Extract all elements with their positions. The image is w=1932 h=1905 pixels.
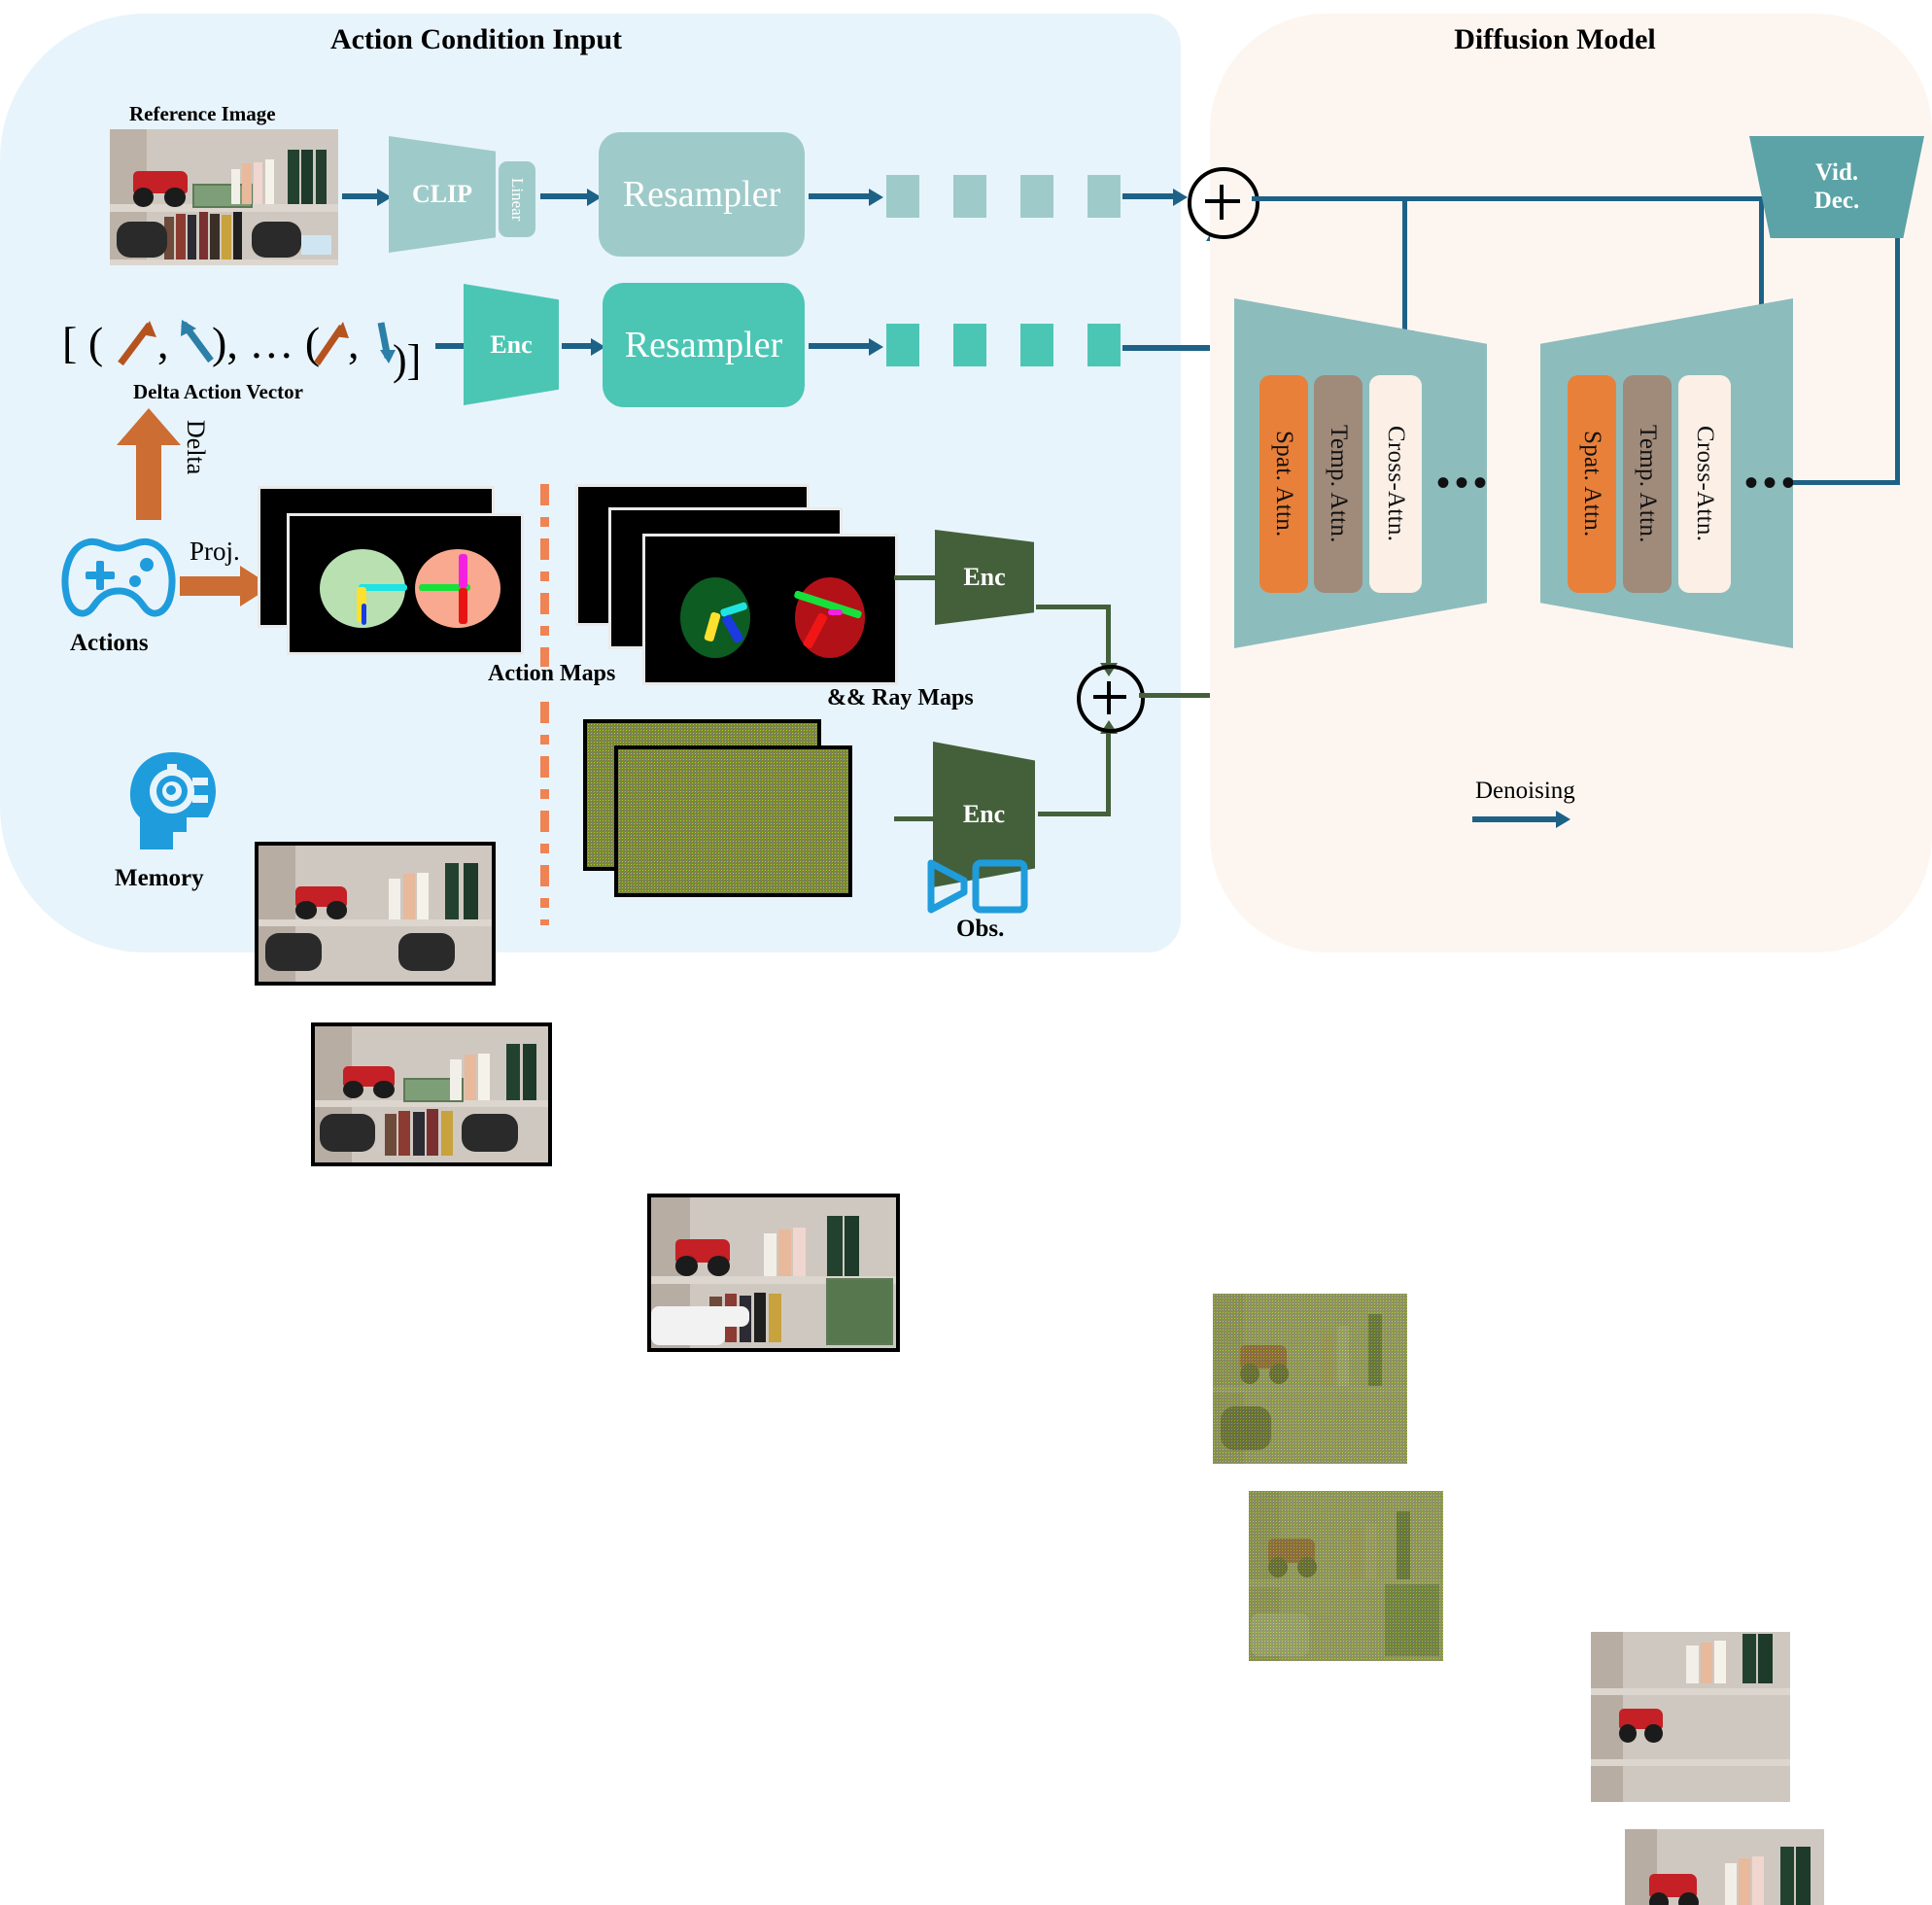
unet-up-spat-attn[interactable]: Spat. Attn.	[1568, 375, 1616, 593]
unet-down-cross-attn-label: Cross-Attn.	[1382, 426, 1409, 541]
dashed-separator-top	[540, 484, 549, 667]
unet-up-ellipsis: •••	[1744, 460, 1800, 505]
unet-up-cross-attn[interactable]: Cross-Attn.	[1678, 375, 1731, 593]
arrow-resampler1-out-line	[809, 193, 869, 199]
delta-vector-closing-bracket: )]	[393, 335, 421, 385]
actions-label: Actions	[70, 630, 149, 657]
resampler-image-block[interactable]: Resampler	[599, 132, 805, 257]
action-token-4	[1087, 324, 1121, 366]
svg-text:,: ,	[157, 318, 169, 367]
denoised-output-back	[1591, 1632, 1790, 1802]
action-map-card-front[interactable]	[287, 513, 524, 655]
action-maps-label: Action Maps	[488, 661, 615, 687]
sum-node-lower	[1077, 665, 1145, 733]
cross-attn-bus-h	[1252, 196, 1764, 201]
denoising-input-front	[1249, 1491, 1443, 1661]
unet-up-temp-attn-label: Temp. Attn.	[1634, 425, 1661, 543]
gamepad-icon	[58, 535, 180, 624]
resampler-action-block[interactable]: Resampler	[603, 283, 805, 407]
resampler-image-label: Resampler	[623, 173, 781, 216]
cross-attn-feed-v-left	[1402, 196, 1407, 332]
svg-text:,: ,	[348, 318, 360, 367]
linear-block[interactable]: Linear	[499, 161, 535, 237]
dashed-separator-bottom	[540, 702, 549, 925]
delta-action-vector-label: Delta Action Vector	[133, 380, 303, 404]
unet-up-cross-attn-label: Cross-Attn.	[1691, 426, 1718, 541]
denoised-output-front[interactable]	[1625, 1829, 1824, 1905]
memory-label: Memory	[115, 865, 204, 892]
action-token-2	[953, 324, 986, 366]
video-decoder-block[interactable]: Vid. Dec.	[1749, 136, 1924, 238]
action-map-encoder-block[interactable]: Enc	[935, 530, 1034, 625]
arrow-tokens2-h	[1122, 345, 1218, 351]
denoising-input-back	[1213, 1294, 1407, 1464]
delta-action-vector-expression: [ ( , ), … ( ,	[60, 307, 400, 375]
memory-brain-icon	[126, 748, 219, 855]
unet-down-spat-attn[interactable]: Spat. Attn.	[1259, 375, 1308, 593]
arrow-resampler1-out-head	[869, 189, 883, 206]
svg-text:), … (: ), … (	[212, 318, 320, 367]
delta-arrow-label: Delta	[181, 420, 210, 479]
left-panel-title: Action Condition Input	[272, 23, 680, 56]
arrow-obsenc-green-v	[1106, 733, 1111, 814]
svg-text:[ (: [ (	[62, 318, 103, 367]
arrow-unet-out-h	[1793, 480, 1900, 485]
unet-down-cross-attn[interactable]: Cross-Attn.	[1369, 375, 1422, 593]
delta-vector-svg: [ ( , ), … ( ,	[60, 307, 398, 375]
unet-down-ellipsis: •••	[1436, 460, 1492, 505]
unet-up-temp-attn[interactable]: Temp. Attn.	[1623, 375, 1672, 593]
noisy-frame-mid	[614, 745, 852, 897]
image-token-3	[1020, 175, 1053, 218]
arrow-resampler2-out-head	[869, 338, 883, 356]
delta-orange-arrow	[115, 408, 183, 520]
unet-down-spat-attn-label: Spat. Attn.	[1270, 431, 1297, 537]
proj-label: Proj.	[190, 537, 240, 567]
memory-frame-back	[255, 842, 496, 986]
action-map-enc-label: Enc	[935, 530, 1034, 625]
delta-enc-label: Enc	[464, 284, 559, 405]
arrow-enc-green-h1	[1036, 605, 1110, 609]
unet-up-spat-attn-label: Spat. Attn.	[1578, 431, 1605, 537]
sum-node-upper	[1188, 167, 1259, 239]
right-panel-title: Diffusion Model	[1351, 23, 1759, 56]
image-token-1	[886, 175, 919, 218]
observation-frame-front[interactable]	[647, 1194, 900, 1352]
arrow-resampler2-out-line	[809, 343, 869, 349]
action-token-1	[886, 324, 919, 366]
clip-label: CLIP	[389, 136, 496, 253]
image-token-2	[953, 175, 986, 218]
obs-camera-icon	[925, 855, 1030, 918]
ray-maps-label: && Ray Maps	[827, 685, 974, 711]
resampler-action-label: Resampler	[625, 324, 783, 366]
memory-frame-front[interactable]	[311, 1022, 552, 1166]
delta-encoder-block[interactable]: Enc	[464, 284, 559, 405]
arrow-denoising-head	[1556, 811, 1570, 828]
unet-down-temp-attn[interactable]: Temp. Attn.	[1314, 375, 1363, 593]
reference-image-thumbnail	[110, 129, 338, 265]
obs-label: Obs.	[956, 916, 1004, 943]
arrow-obsenc-green-h	[1038, 812, 1111, 816]
arrow-enc-to-resampler2-line	[562, 343, 591, 349]
arrow-tokens1-to-sum-head	[1173, 189, 1188, 206]
clip-encoder-block[interactable]: CLIP	[389, 136, 496, 253]
arrow-obs-to-enc-line	[894, 816, 933, 821]
ray-map-card-front[interactable]	[642, 534, 898, 685]
vid-dec-line2: Dec.	[1814, 188, 1860, 216]
vid-dec-line1: Vid.	[1815, 159, 1858, 188]
arrow-raymap-to-enc-line	[894, 575, 935, 580]
arrow-denoising-line	[1472, 816, 1556, 822]
image-token-4	[1087, 175, 1121, 218]
reference-image-label: Reference Image	[129, 102, 276, 126]
action-token-3	[1020, 324, 1053, 366]
unet-down-temp-attn-label: Temp. Attn.	[1325, 425, 1352, 543]
linear-label: Linear	[507, 178, 527, 221]
arrow-linear-to-resampler-line	[540, 193, 587, 199]
arrow-tokens1-to-sum-line	[1122, 193, 1173, 199]
denoising-label: Denoising	[1475, 778, 1575, 805]
arrow-unet-out-v	[1895, 224, 1900, 482]
arrow-enc-green-v1	[1106, 605, 1111, 667]
arrow-ref-to-clip-line	[342, 193, 377, 199]
